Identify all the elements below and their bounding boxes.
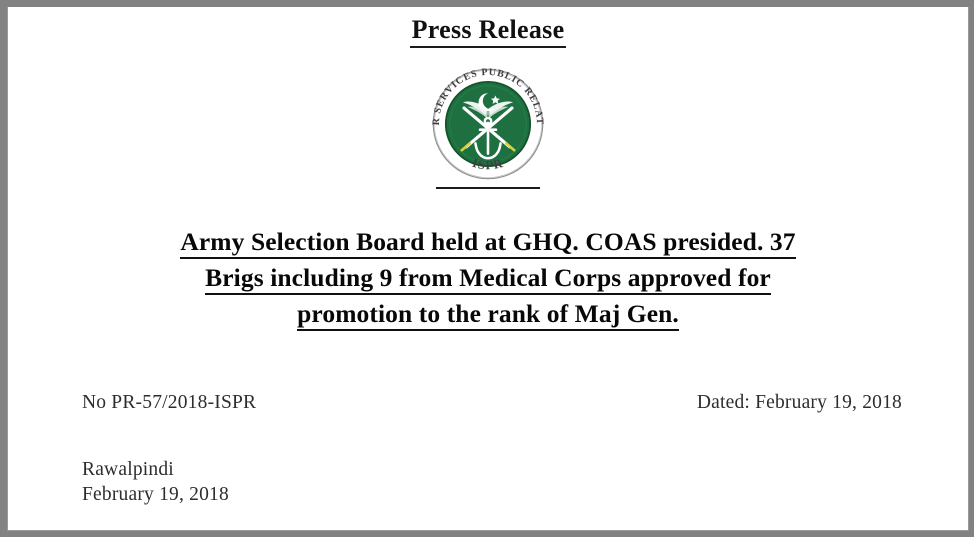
ispr-logo-icon: INTER SERVICES PUBLIC RELATIONS ISPR xyxy=(431,67,545,181)
page-title-container: Press Release xyxy=(8,15,968,48)
headline-line: Brigs including 9 from Medical Corps app… xyxy=(68,260,908,296)
place-date-block: Rawalpindi February 19, 2018 xyxy=(8,457,968,509)
reference-number: No PR-57/2018-ISPR xyxy=(82,392,256,414)
headline-line-text: promotion to the rank of Maj Gen. xyxy=(297,299,679,331)
headline-line: promotion to the rank of Maj Gen. xyxy=(68,296,908,332)
release-date: February 19, 2018 xyxy=(82,482,968,508)
logo-divider xyxy=(436,187,540,189)
headline-line: Army Selection Board held at GHQ. COAS p… xyxy=(68,224,908,260)
headline-line-text: Army Selection Board held at GHQ. COAS p… xyxy=(180,227,795,259)
reference-row: No PR-57/2018-ISPR Dated: February 19, 2… xyxy=(8,392,968,414)
logo-block: INTER SERVICES PUBLIC RELATIONS ISPR xyxy=(8,67,968,189)
headline: Army Selection Board held at GHQ. COAS p… xyxy=(8,224,968,333)
headline-line-text: Brigs including 9 from Medical Corps app… xyxy=(205,263,771,295)
page-title: Press Release xyxy=(410,15,567,48)
dated-label: Dated: February 19, 2018 xyxy=(697,392,902,414)
document-page: Press Release INTER SERVICES PUBLIC RELA… xyxy=(7,7,969,531)
place-name: Rawalpindi xyxy=(82,457,968,483)
